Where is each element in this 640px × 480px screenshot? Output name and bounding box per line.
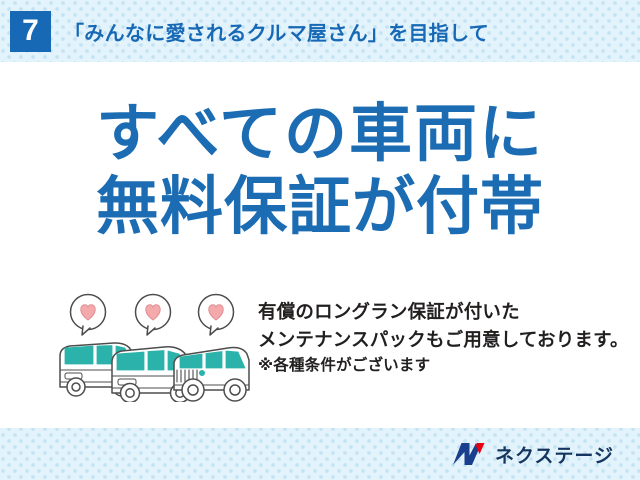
content-panel: すべての車両に 無料保証が付帯	[0, 62, 640, 428]
heart-bubble-center	[136, 295, 171, 336]
heart-bubble-left	[71, 295, 106, 336]
headline-line-1: すべての車両に	[0, 98, 640, 171]
brand-lockup: ネクステージ	[452, 441, 614, 468]
copy-disclaimer: ※各種条件がございます	[258, 354, 630, 379]
section-number-badge: 7	[10, 11, 51, 52]
detail-row: 有償のロングラン保証が付いた メンテナンスパックもご用意しております。 ※各種条…	[0, 290, 640, 416]
car-right	[174, 348, 249, 401]
copy-line-2: メンテナンスパックもご用意しております。	[258, 326, 630, 354]
banner-header: 7 「みんなに愛されるクルマ屋さん」を目指して	[0, 0, 640, 62]
three-cars-illustration	[52, 290, 256, 402]
banner-footer: ネクステージ	[0, 428, 640, 480]
nextage-n-logo-icon	[452, 442, 486, 466]
promo-banner: 7 「みんなに愛されるクルマ屋さん」を目指して すべての車両に 無料保証が付帯	[0, 0, 640, 480]
supporting-copy: 有償のロングラン保証が付いた メンテナンスパックもご用意しております。 ※各種条…	[258, 298, 630, 379]
headline: すべての車両に 無料保証が付帯	[0, 98, 640, 244]
heart-bubble-right	[199, 295, 234, 336]
header-tagline: 「みんなに愛されるクルマ屋さん」を目指して	[64, 17, 489, 46]
headline-line-2: 無料保証が付帯	[0, 171, 640, 244]
brand-name-text: ネクステージ	[495, 441, 614, 468]
copy-line-1: 有償のロングラン保証が付いた	[258, 298, 630, 326]
